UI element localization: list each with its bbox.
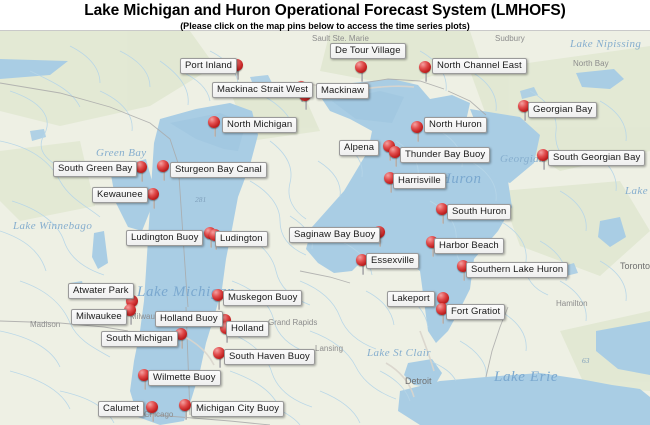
map-label-muskegon-buoy[interactable]: Muskegon Buoy — [223, 290, 302, 306]
map-label-saginaw-bay-buoy[interactable]: Saginaw Bay Buoy — [289, 227, 380, 243]
page-subtitle: (Please click on the map pins below to a… — [0, 19, 650, 31]
map-label-holland-buoy[interactable]: Holland Buoy — [155, 311, 223, 327]
map-label-sturgeon-bay-canal[interactable]: Sturgeon Bay Canal — [170, 162, 267, 178]
map-label-atwater-park[interactable]: Atwater Park — [68, 283, 134, 299]
map-label-lakeport[interactable]: Lakeport — [387, 291, 435, 307]
map-label-south-georgian-bay[interactable]: South Georgian Bay — [548, 150, 645, 166]
map-label-port-inland[interactable]: Port Inland — [180, 58, 237, 74]
pin-head-icon — [419, 61, 431, 73]
map-pin-sturgeon-bay-canal[interactable] — [157, 160, 170, 181]
map-label-harbor-beach[interactable]: Harbor Beach — [434, 238, 504, 254]
map-label-mackinac-strait-west[interactable]: Mackinac Strait West — [212, 82, 313, 98]
map-label-fort-gratiot[interactable]: Fort Gratiot — [446, 304, 505, 320]
map-pin-de-tour-village[interactable] — [355, 61, 368, 82]
map-label-alpena[interactable]: Alpena — [339, 140, 379, 156]
pin-head-icon — [146, 401, 158, 413]
map-label-georgian-bay[interactable]: Georgian Bay — [528, 102, 597, 118]
map-pin-north-michigan[interactable] — [208, 116, 221, 137]
map-label-south-haven-buoy[interactable]: South Haven Buoy — [224, 349, 315, 365]
pin-head-icon — [179, 399, 191, 411]
pin-head-icon — [147, 188, 159, 200]
map-label-de-tour-village[interactable]: De Tour Village — [330, 43, 406, 59]
map-label-north-huron[interactable]: North Huron — [424, 117, 487, 133]
map-label-holland[interactable]: Holland — [226, 321, 269, 337]
map-pin-kewaunee[interactable] — [147, 188, 160, 209]
pin-head-icon — [157, 160, 169, 172]
map-frame[interactable]: Lake MichiganHuronLake ErieLake Winnebag… — [0, 30, 650, 425]
map-label-mackinaw[interactable]: Mackinaw — [316, 83, 369, 99]
map-label-harrisville[interactable]: Harrisville — [393, 173, 446, 189]
map-label-wilmette-buoy[interactable]: Wilmette Buoy — [148, 370, 221, 386]
map-label-calumet[interactable]: Calumet — [98, 401, 144, 417]
map-pin-calumet[interactable] — [146, 401, 159, 422]
map-label-kewaunee[interactable]: Kewaunee — [92, 187, 148, 203]
lmhofs-page: Lake Michigan and Huron Operational Fore… — [0, 0, 650, 425]
map-label-north-channel-east[interactable]: North Channel East — [432, 58, 527, 74]
page-title: Lake Michigan and Huron Operational Fore… — [0, 0, 650, 19]
map-label-south-green-bay[interactable]: South Green Bay — [53, 161, 137, 177]
map-label-milwaukee[interactable]: Milwaukee — [71, 309, 127, 325]
map-label-essexville[interactable]: Essexville — [366, 253, 419, 269]
map-label-ludington[interactable]: Ludington — [215, 231, 268, 247]
page-header: Lake Michigan and Huron Operational Fore… — [0, 0, 650, 30]
map-label-southern-lake-huron[interactable]: Southern Lake Huron — [466, 262, 568, 278]
map-label-thunder-bay-buoy[interactable]: Thunder Bay Buoy — [400, 147, 490, 163]
map-pin-north-channel-east[interactable] — [419, 61, 432, 82]
pin-head-icon — [411, 121, 423, 133]
map-label-north-michigan[interactable]: North Michigan — [222, 117, 297, 133]
pin-head-icon — [355, 61, 367, 73]
map-label-south-huron[interactable]: South Huron — [447, 204, 511, 220]
map-label-south-michigan[interactable]: South Michigan — [101, 331, 178, 347]
pin-head-icon — [208, 116, 220, 128]
map-pin-north-huron[interactable] — [411, 121, 424, 142]
map-label-michigan-city-buoy[interactable]: Michigan City Buoy — [191, 401, 284, 417]
map-label-ludington-buoy[interactable]: Ludington Buoy — [126, 230, 203, 246]
